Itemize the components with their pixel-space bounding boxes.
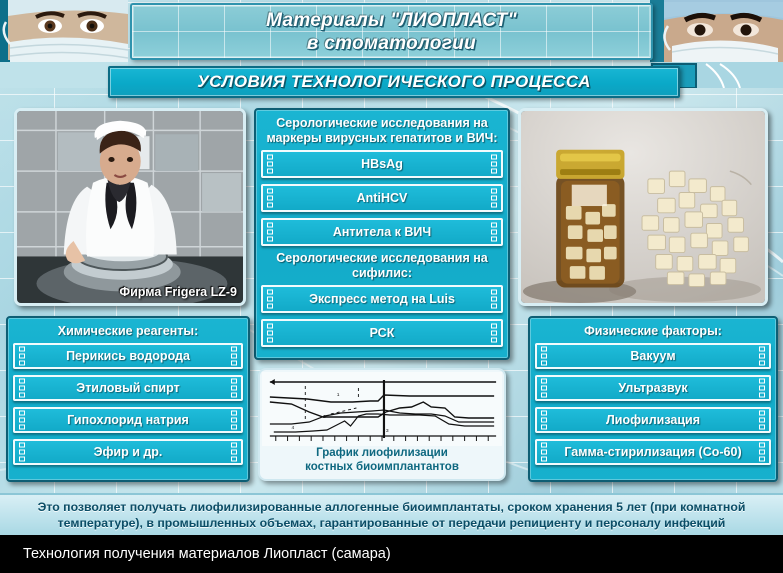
chemical-item-ethyl-alcohol[interactable]: Этиловый спирт <box>13 375 243 401</box>
graph-caption-line-1: График лиофилизации <box>262 447 502 460</box>
serology-item-luis-express[interactable]: Экспресс метод на Luis <box>261 285 503 313</box>
sprocket-right-icon <box>491 324 497 343</box>
serology-panel-heading: Серологические исследования на маркеры в… <box>261 114 503 150</box>
physical-panel-heading: Физические факторы: <box>535 322 771 343</box>
item-label: Вакуум <box>630 349 675 363</box>
item-label: Экспресс метод на Luis <box>309 292 455 306</box>
item-label: Этиловый спирт <box>76 381 179 395</box>
physical-item-lyophilization[interactable]: Лиофилизация <box>535 407 771 433</box>
title-line-1: Материалы "ЛИОПЛАСТ" <box>266 9 517 32</box>
lyophilization-chart: 1 2 3 4 <box>262 372 502 446</box>
sprocket-left-icon <box>541 379 547 398</box>
caption-strip-text: Технология получения материалов Лиопласт… <box>0 546 391 562</box>
sprocket-right-icon <box>231 379 237 398</box>
physical-item-gamma-sterilization[interactable]: Гамма-стирилизация (Co-60) <box>535 439 771 465</box>
item-label: HBsAg <box>361 157 403 171</box>
graph-caption-line-2: костных биоимплантантов <box>262 461 502 474</box>
sprocket-right-icon <box>491 223 497 242</box>
sprocket-left-icon <box>267 290 273 309</box>
item-label: Гамма-стирилизация (Co-60) <box>564 445 741 459</box>
chemical-item-sodium-hypochlorite[interactable]: Гипохлорид натрия <box>13 407 243 433</box>
sprocket-left-icon <box>541 443 547 462</box>
sprocket-left-icon <box>267 223 273 242</box>
chemical-reagents-panel: Химические реагенты: Перикись водорода Э… <box>6 316 250 482</box>
left-photo-caption: Фирма Frigera LZ-9 <box>119 285 237 299</box>
sprocket-left-icon <box>19 379 25 398</box>
item-label: РСК <box>370 326 395 340</box>
svg-text:2: 2 <box>323 414 326 420</box>
serology-item-antihcv[interactable]: AntiHCV <box>261 184 503 212</box>
chemical-panel-heading: Химические реагенты: <box>13 322 243 343</box>
item-label: Гипохлорид натрия <box>67 413 189 427</box>
sprocket-right-icon <box>759 379 765 398</box>
sprocket-left-icon <box>267 155 273 174</box>
summary-statement-bar: Это позволяет получать лиофилизированные… <box>0 493 783 535</box>
slide-title-banner: Материалы "ЛИОПЛАСТ" в стоматологии <box>130 3 653 60</box>
svg-text:4: 4 <box>292 425 295 431</box>
sprocket-right-icon <box>759 411 765 430</box>
caption-strip: Технология получения материалов Лиопласт… <box>0 535 783 573</box>
sprocket-left-icon <box>541 347 547 366</box>
chemical-item-hydrogen-peroxide[interactable]: Перикись водорода <box>13 343 243 369</box>
lyophilized-bone-implants-photo <box>518 108 768 306</box>
svg-text:1: 1 <box>337 392 340 398</box>
sprocket-right-icon <box>759 347 765 366</box>
syphilis-subheading: Серологические исследования на сифилис: <box>261 251 503 281</box>
sprocket-right-icon <box>231 411 237 430</box>
subtitle-bar: УСЛОВИЯ ТЕХНОЛОГИЧЕСКОГО ПРОЦЕССА <box>108 66 680 98</box>
sprocket-left-icon <box>267 189 273 208</box>
serology-panel: Серологические исследования на маркеры в… <box>254 108 510 360</box>
freeze-dryer-operator-photo: Фирма Frigera LZ-9 <box>14 108 246 306</box>
sprocket-left-icon <box>19 347 25 366</box>
sprocket-left-icon <box>19 443 25 462</box>
item-label: Эфир и др. <box>94 445 163 459</box>
serology-item-hiv-antibodies[interactable]: Антитела к ВИЧ <box>261 218 503 246</box>
sprocket-left-icon <box>19 411 25 430</box>
physical-item-vacuum[interactable]: Вакуум <box>535 343 771 369</box>
svg-text:3: 3 <box>386 428 389 434</box>
item-label: Ультразвук <box>618 381 687 395</box>
chemical-item-ether-etc[interactable]: Эфир и др. <box>13 439 243 465</box>
item-label: Лиофилизация <box>606 413 700 427</box>
sprocket-right-icon <box>491 290 497 309</box>
summary-statement-text: Это позволяет получать лиофилизированные… <box>6 499 777 531</box>
lyophilization-graph-card: 1 2 3 4 График лиофилизации костных биои… <box>258 368 506 481</box>
sprocket-right-icon <box>491 189 497 208</box>
subtitle-text: УСЛОВИЯ ТЕХНОЛОГИЧЕСКОГО ПРОЦЕССА <box>197 72 591 92</box>
item-label: AntiHCV <box>357 191 408 205</box>
sprocket-right-icon <box>491 155 497 174</box>
sprocket-right-icon <box>759 443 765 462</box>
sprocket-right-icon <box>231 443 237 462</box>
serology-item-rsk[interactable]: РСК <box>261 319 503 347</box>
slide-canvas: Материалы "ЛИОПЛАСТ" в стоматологии УСЛО… <box>0 0 783 535</box>
item-label: Перикись водорода <box>66 349 190 363</box>
physical-factors-panel: Физические факторы: Вакуум Ультразвук Ли… <box>528 316 778 482</box>
sprocket-right-icon <box>231 347 237 366</box>
sprocket-left-icon <box>541 411 547 430</box>
sprocket-left-icon <box>267 324 273 343</box>
title-line-2: в стоматологии <box>307 32 476 55</box>
physical-item-ultrasound[interactable]: Ультразвук <box>535 375 771 401</box>
item-label: Антитела к ВИЧ <box>333 225 431 239</box>
serology-item-hbsag[interactable]: HBsAg <box>261 150 503 178</box>
